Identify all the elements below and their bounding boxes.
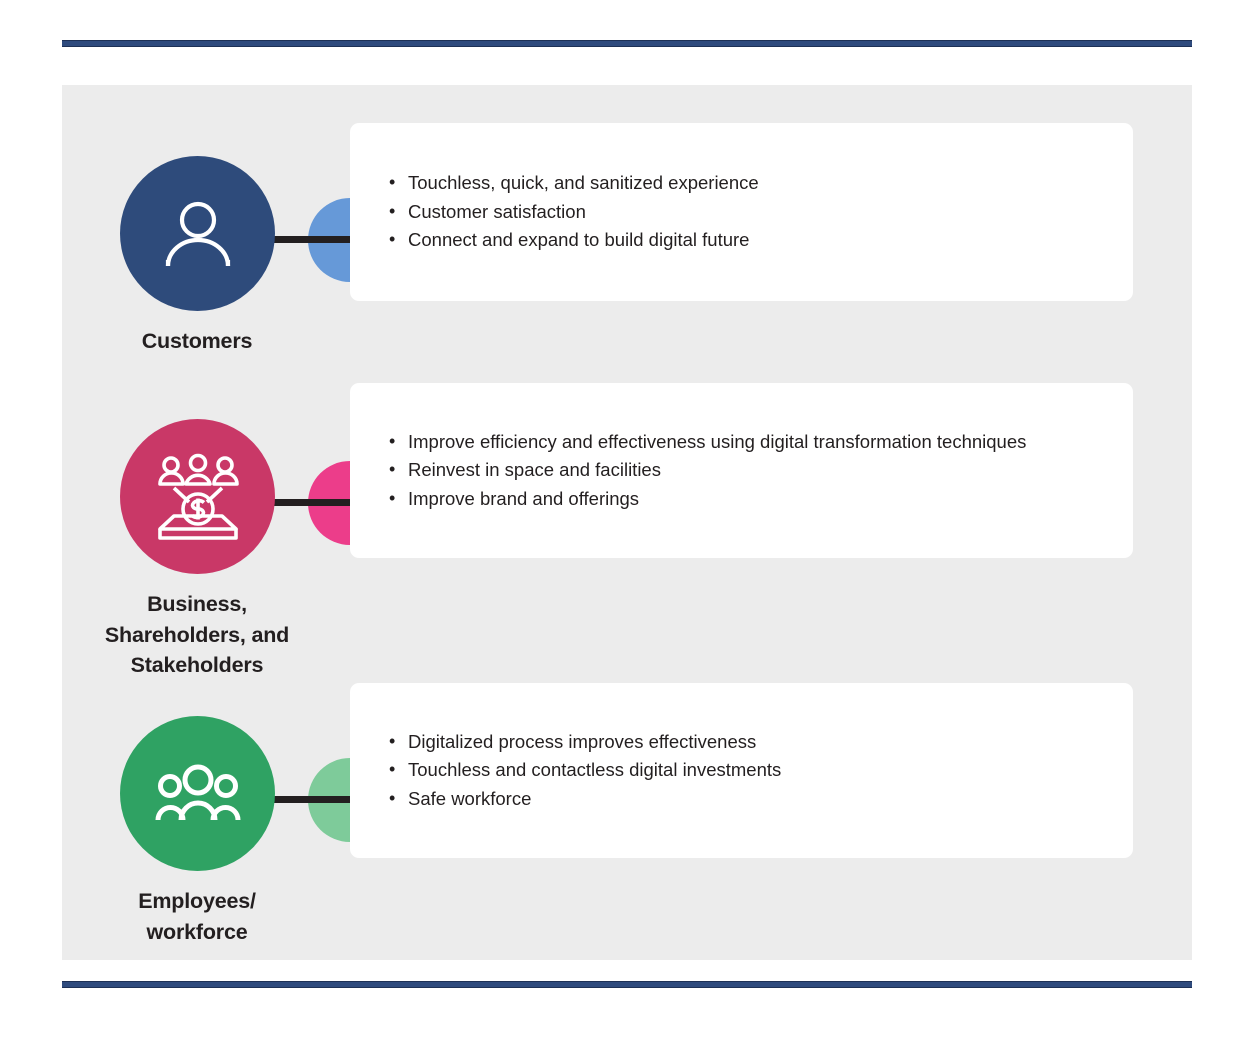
- node-label-employees: Employees/ workforce: [62, 886, 332, 947]
- node-label-customers: Customers: [62, 326, 332, 357]
- top-rule: [62, 40, 1192, 47]
- people-group-icon: [155, 764, 241, 824]
- stakeholders-money-icon: [152, 453, 244, 541]
- list-item: Touchless and contactless digital invest…: [408, 756, 1109, 784]
- node-label-line: Shareholders, and: [62, 620, 332, 651]
- benefits-card-business: Improve efficiency and effectiveness usi…: [350, 383, 1133, 558]
- benefits-card-employees: Digitalized process improves effectivene…: [350, 683, 1133, 858]
- list-item: Digitalized process improves effectivene…: [408, 728, 1109, 756]
- benefits-card-customers: Touchless, quick, and sanitized experien…: [350, 123, 1133, 301]
- benefits-list-business: Improve efficiency and effectiveness usi…: [350, 428, 1133, 513]
- list-item: Improve brand and offerings: [408, 485, 1109, 513]
- node-label-line: workforce: [62, 917, 332, 948]
- node-label-line: Stakeholders: [62, 650, 332, 681]
- list-item: Customer satisfaction: [408, 198, 1109, 226]
- diagram-panel: Customers Touchless, quick, and sanitize…: [62, 85, 1192, 960]
- node-label-line: Employees/: [62, 886, 332, 917]
- diagram-page: Customers Touchless, quick, and sanitize…: [0, 0, 1253, 1047]
- person-icon: [158, 194, 238, 274]
- benefits-list-employees: Digitalized process improves effectivene…: [350, 728, 1133, 813]
- node-circle-customers[interactable]: [120, 156, 275, 311]
- list-item: Touchless, quick, and sanitized experien…: [408, 169, 1109, 197]
- list-item: Reinvest in space and facilities: [408, 456, 1109, 484]
- bottom-rule: [62, 981, 1192, 988]
- node-circle-business[interactable]: [120, 419, 275, 574]
- node-label-line: Business,: [62, 589, 332, 620]
- list-item: Improve efficiency and effectiveness usi…: [408, 428, 1109, 456]
- node-circle-employees[interactable]: [120, 716, 275, 871]
- benefits-list-customers: Touchless, quick, and sanitized experien…: [350, 169, 1133, 254]
- node-label-business: Business, Shareholders, and Stakeholders: [62, 589, 332, 681]
- list-item: Connect and expand to build digital futu…: [408, 226, 1109, 254]
- list-item: Safe workforce: [408, 785, 1109, 813]
